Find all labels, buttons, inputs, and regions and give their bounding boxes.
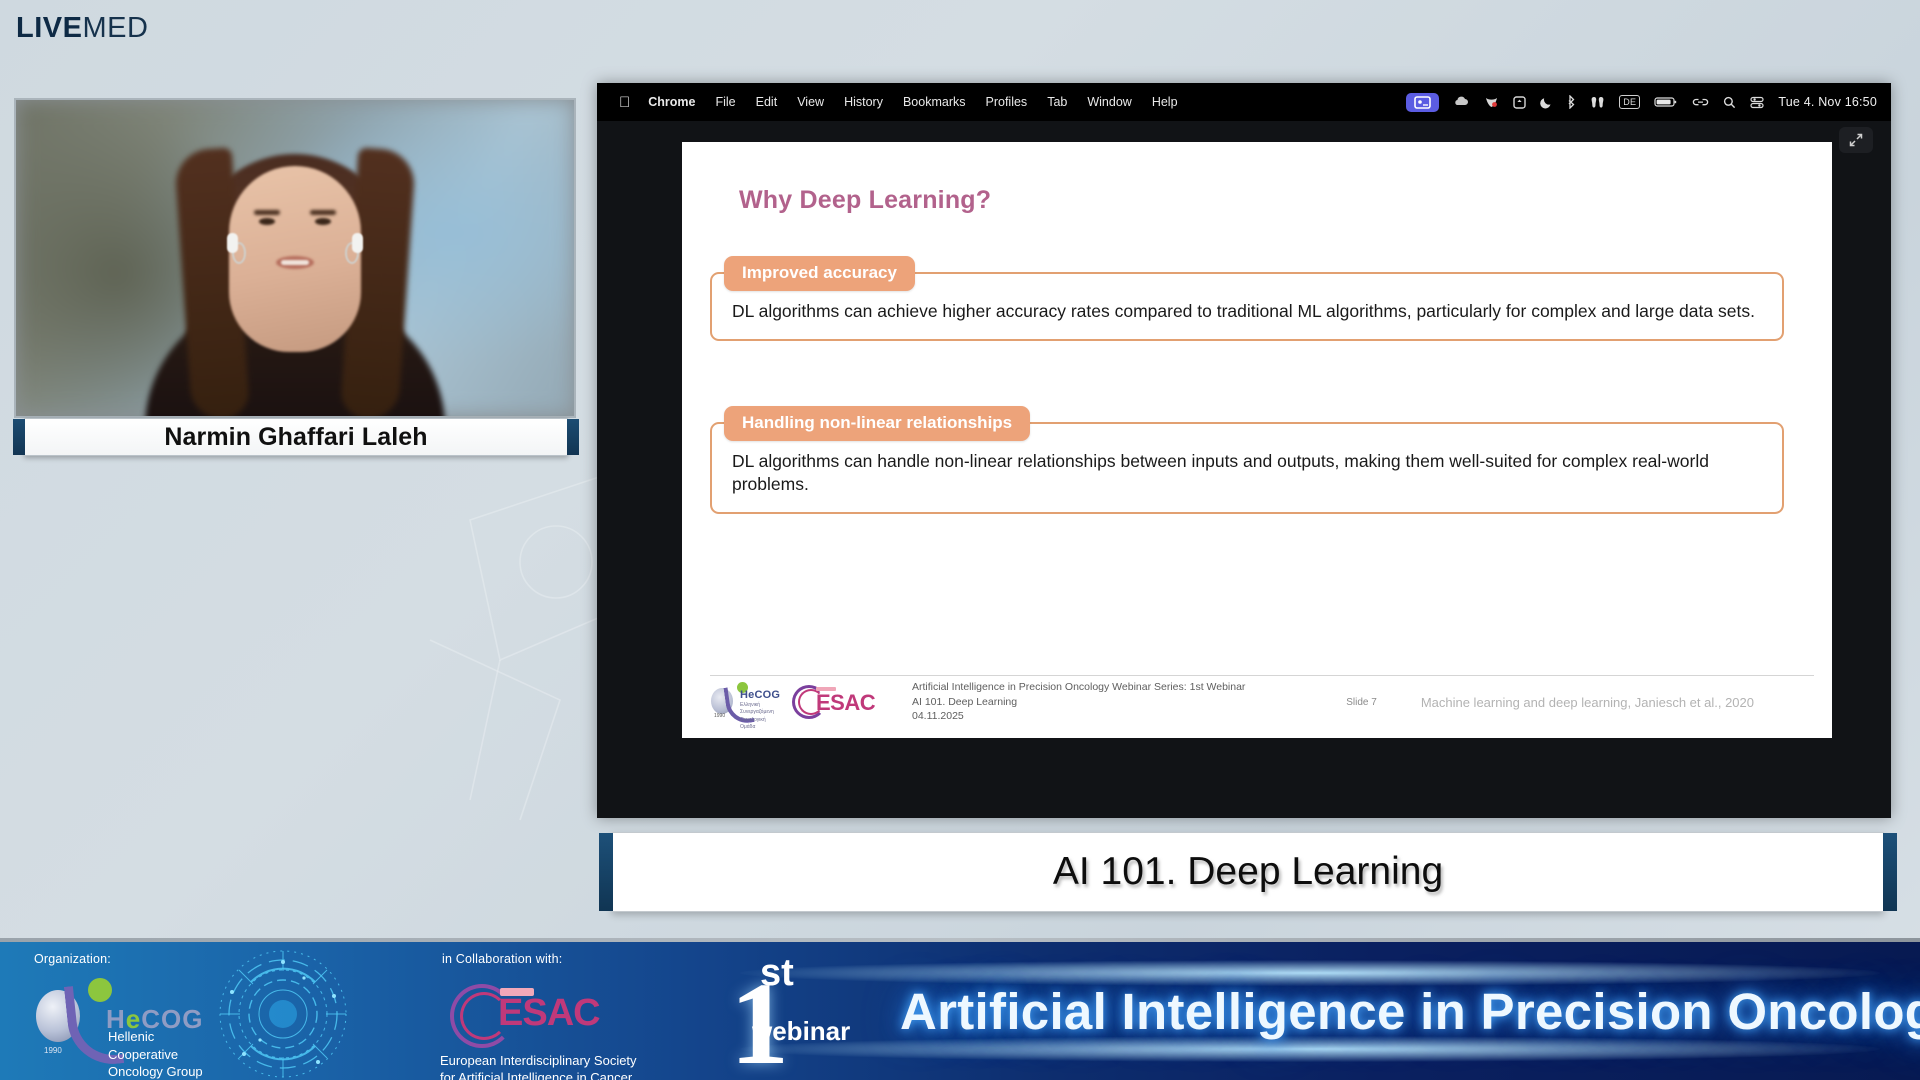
menu-item-tab[interactable]: Tab	[1047, 95, 1067, 109]
logo-live-text: LIVE	[16, 12, 82, 44]
session-title-banner: AI 101. Deep Learning	[612, 832, 1884, 912]
screen-share-icon[interactable]	[1406, 93, 1439, 112]
hecog-dot-icon	[88, 978, 112, 1002]
event-main-title: Artificial Intelligence in Precision Onc…	[900, 982, 1910, 1041]
callout-label: Improved accuracy	[724, 256, 915, 291]
menu-item-bookmarks[interactable]: Bookmarks	[903, 95, 966, 109]
bluetooth-icon[interactable]	[1567, 95, 1576, 109]
footer-line-1: Artificial Intelligence in Precision Onc…	[912, 680, 1245, 695]
link-icon[interactable]	[1692, 96, 1709, 108]
menu-item-help[interactable]: Help	[1152, 95, 1178, 109]
control-center-icon[interactable]	[1750, 96, 1764, 109]
sponsor-bar: Organization: 1990 HeCOG Hellenic Cooper…	[0, 938, 1920, 1080]
slide-title: Why Deep Learning?	[739, 186, 991, 215]
hecog-logo-text: HeCOG	[740, 689, 780, 701]
slide-footer: HeCOG Ελληνική Συνεργαζόμενη Ογκολογική …	[710, 674, 1814, 730]
airpods-icon[interactable]	[1590, 96, 1605, 109]
sponsor-bar-top-rule	[0, 938, 1920, 942]
session-title: AI 101. Deep Learning	[1053, 850, 1443, 894]
macos-menubar:  Chrome File Edit View History Bookmark…	[597, 83, 1891, 121]
logo-med-text: MED	[82, 12, 148, 44]
speaker-video-frame[interactable]	[14, 98, 576, 418]
do-not-disturb-moon-icon[interactable]	[1540, 96, 1553, 109]
footer-line-2: AI 101. Deep Learning	[912, 695, 1245, 710]
menu-item-profiles[interactable]: Profiles	[986, 95, 1028, 109]
menu-item-chrome[interactable]: Chrome	[648, 95, 695, 109]
esac-logo-small: ESAC	[790, 681, 878, 723]
menu-item-file[interactable]: File	[715, 95, 735, 109]
earbud-left	[227, 233, 238, 253]
slide-citation: Machine learning and deep learning, Jani…	[1421, 695, 1814, 710]
esac-logo: ESAC European Interdisciplinary Society …	[440, 974, 680, 1074]
hecog-logo: 1990 HeCOG Hellenic Cooperative Oncology…	[30, 976, 230, 1076]
callout-text: DL algorithms can handle non-linear rela…	[732, 450, 1762, 496]
livemed-logo: LIVEMED	[16, 14, 148, 43]
apple-logo-icon[interactable]: 	[619, 95, 630, 110]
screen-share-panel[interactable]:  Chrome File Edit View History Bookmark…	[597, 83, 1891, 818]
earbud-right	[352, 233, 363, 253]
dropbox-icon[interactable]	[1513, 96, 1526, 109]
weather-cloud-icon[interactable]	[1453, 96, 1470, 108]
speaker-nameplate: Narmin Ghaffari Laleh	[24, 418, 568, 456]
collaboration-label: in Collaboration with:	[442, 952, 562, 966]
callout-nonlinear-relationships: DL algorithms can handle non-linear rela…	[710, 422, 1784, 514]
slide-number: Slide 7	[1346, 697, 1421, 708]
menubar-clock[interactable]: Tue 4. Nov 16:50	[1778, 95, 1877, 109]
menu-item-view[interactable]: View	[797, 95, 824, 109]
expand-fullscreen-icon[interactable]	[1839, 127, 1873, 153]
eyebrow-left	[254, 210, 280, 215]
speaker-video-tile[interactable]	[14, 98, 576, 418]
webinar-ordinal-suffix: st	[760, 952, 794, 995]
menu-item-edit[interactable]: Edit	[756, 95, 778, 109]
presentation-slide: Why Deep Learning? DL algorithms can ach…	[682, 142, 1832, 738]
slide-footer-text: Artificial Intelligence in Precision Onc…	[912, 680, 1245, 725]
menubar-items: Chrome File Edit View History Bookmarks …	[648, 95, 1177, 109]
search-icon[interactable]	[1723, 96, 1736, 109]
hecog-year-text: 1990	[44, 1046, 62, 1055]
esac-subtitle: European Interdisciplinary Society for A…	[440, 1052, 680, 1080]
esac-logo-text: ESAC	[816, 690, 875, 716]
tech-circle-graphic	[208, 944, 358, 1080]
hecog-logo-small: HeCOG Ελληνική Συνεργαζόμενη Ογκολογική …	[710, 680, 776, 724]
callout-improved-accuracy: DL algorithms can achieve higher accurac…	[710, 272, 1784, 341]
menu-item-window[interactable]: Window	[1087, 95, 1131, 109]
keyboard-layout-badge[interactable]: DE	[1619, 95, 1640, 109]
webinar-word: webinar	[752, 1016, 850, 1047]
collaboration-label-wrap: in Collaboration with:	[442, 952, 562, 966]
menu-item-history[interactable]: History	[844, 95, 883, 109]
eyebrow-right	[310, 210, 336, 215]
footer-line-3: 04.11.2025	[912, 709, 1245, 724]
app-red-icon[interactable]	[1484, 96, 1499, 109]
callout-label: Handling non-linear relationships	[724, 406, 1030, 441]
callout-text: DL algorithms can achieve higher accurac…	[732, 300, 1762, 323]
hecog-logo-subtitle: Ελληνική Συνεργαζόμενη Ογκολογική Ομάδα	[740, 702, 776, 731]
esac-name: ESAC	[498, 992, 600, 1035]
speaker-portrait	[16, 125, 574, 416]
speaker-name: Narmin Ghaffari Laleh	[164, 423, 427, 452]
battery-icon[interactable]	[1654, 96, 1678, 108]
organization-label-wrap: Organization:	[34, 952, 111, 966]
hecog-subtitle: Hellenic Cooperative Oncology Group	[108, 1028, 203, 1080]
hecog-year-text: 1990	[714, 713, 725, 719]
organization-label: Organization:	[34, 952, 111, 966]
menubar-status-area: DE Tue 4. Nov 16:50	[1406, 93, 1877, 112]
teeth-shape	[281, 260, 309, 265]
